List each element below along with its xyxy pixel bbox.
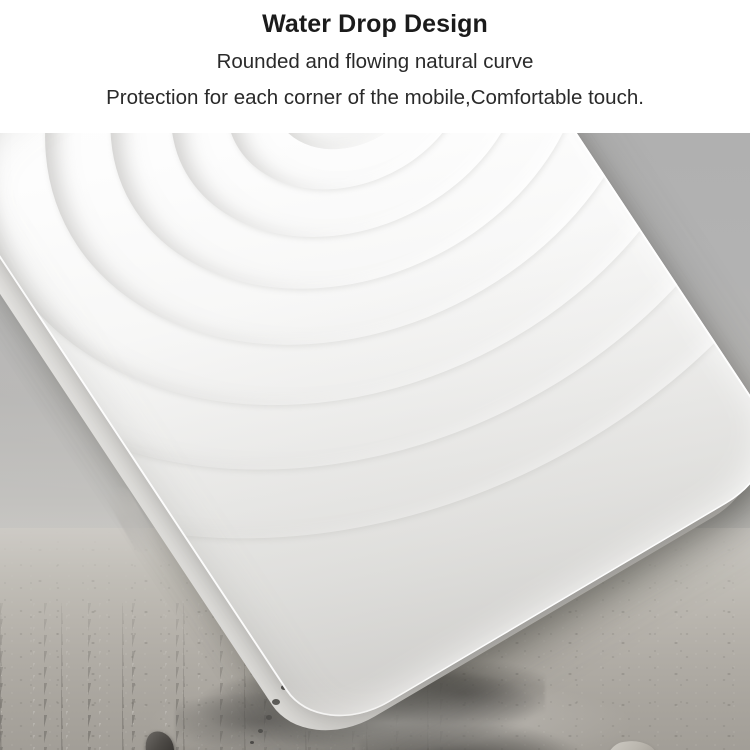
water-drop-ripple-pattern: [0, 133, 750, 743]
page-title: Water Drop Design: [0, 9, 750, 40]
case-corner-notch: [104, 484, 160, 557]
product-banner: Water Drop Design Rounded and flowing na…: [0, 0, 750, 750]
subtitle-line-1: Rounded and flowing natural curve: [0, 50, 750, 75]
subtitle-line-2: Protection for each corner of the mobile…: [0, 86, 750, 111]
phone-case-face: [0, 133, 750, 743]
header-text-block: Water Drop Design Rounded and flowing na…: [0, 0, 750, 133]
product-photo: [0, 133, 750, 750]
phone-case: [0, 133, 750, 750]
